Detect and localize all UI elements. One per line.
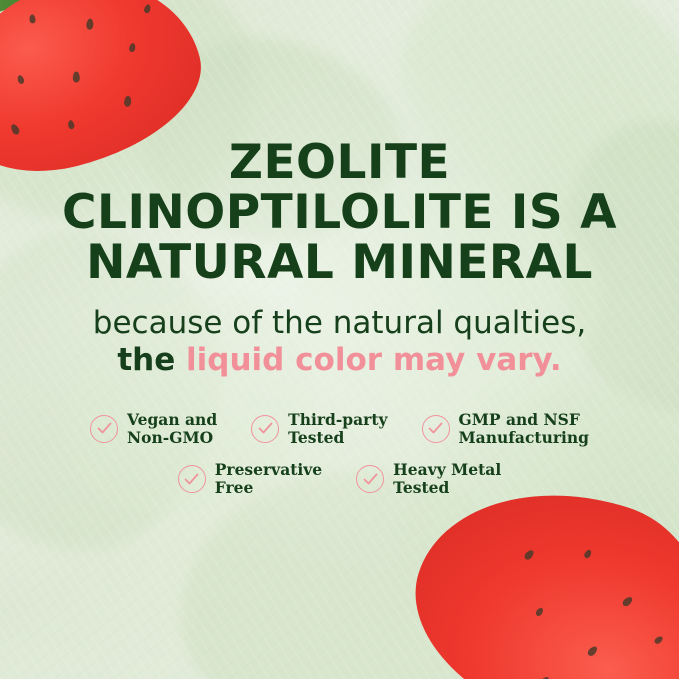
product-infographic: ZEOLITE CLINOPTILOLITE IS A NATURAL MINE… <box>0 0 679 679</box>
feature-item-vegan-non-gmo: Vegan and Non-GMO <box>90 411 217 448</box>
feature-item-heavy-metal-tested: Heavy Metal Tested <box>356 461 501 498</box>
feature-label: Preservative Free <box>215 461 322 498</box>
subtitle: because of the natural qualties, the liq… <box>20 305 660 378</box>
feature-item-third-party-tested: Third-party Tested <box>251 411 387 448</box>
subtitle-bold-prefix: the <box>117 342 186 378</box>
check-icon <box>178 465 206 493</box>
feature-row-one: Vegan and Non-GMO Third-party Tested <box>90 411 589 448</box>
check-icon <box>251 415 279 443</box>
feature-label: Vegan and Non-GMO <box>127 411 217 448</box>
check-icon <box>422 415 450 443</box>
feature-item-gmp-nsf: GMP and NSF Manufacturing <box>422 411 589 448</box>
page-title: ZEOLITE CLINOPTILOLITE IS A NATURAL MINE… <box>20 138 660 287</box>
feature-label: GMP and NSF Manufacturing <box>459 411 589 448</box>
feature-row-two: Preservative Free Heavy Metal Tested <box>178 461 501 498</box>
subtitle-highlight: liquid color may vary. <box>186 342 562 378</box>
poster-content: ZEOLITE CLINOPTILOLITE IS A NATURAL MINE… <box>0 0 679 679</box>
check-icon <box>356 465 384 493</box>
feature-list: Vegan and Non-GMO Third-party Tested <box>20 411 660 498</box>
feature-label: Heavy Metal Tested <box>393 461 501 498</box>
subtitle-line-one: because of the natural qualties, <box>93 305 586 341</box>
feature-item-preservative-free: Preservative Free <box>178 461 322 498</box>
check-icon <box>90 415 118 443</box>
feature-label: Third-party Tested <box>288 411 387 448</box>
